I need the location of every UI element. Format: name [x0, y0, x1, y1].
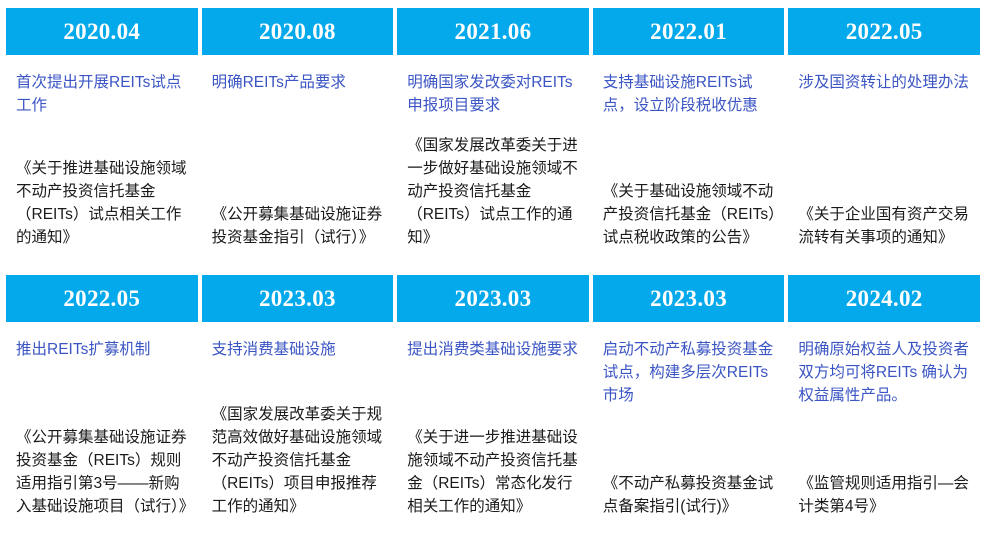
timeline-date-header: 2023.03 [397, 275, 589, 322]
timeline-summary-text: 提出消费类基础设施要求 [407, 338, 583, 361]
timeline-document-title: 《关于企业国有资产交易流转有关事项的通知》 [798, 203, 974, 249]
timeline-cell: 2024.02 明确原始权益人及投资者双方均可将REITs 确认为权益属性产品。… [788, 267, 980, 534]
timeline-date-label: 2023.03 [455, 287, 532, 310]
timeline-date-header: 2022.01 [593, 8, 785, 55]
timeline-row: 2022.05 推出REITs扩募机制 《公开募集基础设施证券投资基金（REIT… [6, 267, 980, 534]
timeline-cell: 2023.03 提出消费类基础设施要求 《关于进一步推进基础设施领域不动产投资信… [397, 267, 593, 534]
timeline-summary-text: 明确国家发改委对REITs申报项目要求 [407, 71, 583, 117]
timeline-date-header: 2021.06 [397, 8, 589, 55]
timeline-cell: 2023.03 启动不动产私募投资基金试点，构建多层次REITs市场 《不动产私… [593, 267, 789, 534]
reits-policy-timeline: 2020.04 首次提出开展REITs试点工作 《关于推进基础设施领域不动产投资… [0, 0, 986, 534]
timeline-cell-body: 支持消费基础设施 《国家发展改革委关于规范高效做好基础设施领域不动产投资信托基金… [202, 322, 394, 534]
timeline-summary-text: 明确原始权益人及投资者双方均可将REITs 确认为权益属性产品。 [798, 338, 974, 407]
timeline-date-label: 2022.01 [650, 20, 727, 43]
timeline-cell-body: 推出REITs扩募机制 《公开募集基础设施证券投资基金（REITs）规则适用指引… [6, 322, 198, 534]
timeline-document-title: 《关于基础设施领域不动产投资信托基金（REITs）试点税收政策的公告》 [603, 180, 779, 249]
timeline-cell-body: 首次提出开展REITs试点工作 《关于推进基础设施领域不动产投资信托基金（REI… [6, 55, 198, 267]
timeline-document-title: 《关于推进基础设施领域不动产投资信托基金（REITs）试点相关工作的通知》 [16, 157, 192, 249]
timeline-document-title: 《关于进一步推进基础设施领域不动产投资信托基金（REITs）常态化发行相关工作的… [407, 426, 583, 518]
timeline-date-header: 2022.05 [788, 8, 980, 55]
timeline-date-label: 2022.05 [846, 20, 923, 43]
timeline-summary-text: 支持消费基础设施 [212, 338, 388, 361]
timeline-date-label: 2023.03 [259, 287, 336, 310]
timeline-cell-body: 明确国家发改委对REITs申报项目要求 《国家发展改革委关于进一步做好基础设施领… [397, 55, 589, 267]
timeline-row: 2020.04 首次提出开展REITs试点工作 《关于推进基础设施领域不动产投资… [6, 0, 980, 267]
timeline-document-title: 《公开募集基础设施证券投资基金（REITs）规则适用指引第3号——新购入基础设施… [16, 426, 192, 518]
timeline-date-header: 2024.02 [788, 275, 980, 322]
timeline-date-label: 2020.08 [259, 20, 336, 43]
timeline-cell-body: 明确原始权益人及投资者双方均可将REITs 确认为权益属性产品。 《监管规则适用… [788, 322, 980, 534]
timeline-document-title: 《国家发展改革委关于规范高效做好基础设施领域不动产投资信托基金（REITs）项目… [212, 403, 388, 518]
timeline-cell-body: 明确REITs产品要求 《公开募集基础设施证券投资基金指引（试行）》 [202, 55, 394, 267]
timeline-document-title: 《国家发展改革委关于进一步做好基础设施领域不动产投资信托基金（REITs）试点工… [407, 134, 583, 249]
timeline-summary-text: 明确REITs产品要求 [212, 71, 388, 94]
timeline-cell-body: 提出消费类基础设施要求 《关于进一步推进基础设施领域不动产投资信托基金（REIT… [397, 322, 589, 534]
timeline-summary-text: 首次提出开展REITs试点工作 [16, 71, 192, 117]
timeline-date-label: 2023.03 [650, 287, 727, 310]
timeline-cell: 2022.05 涉及国资转让的处理办法 《关于企业国有资产交易流转有关事项的通知… [788, 0, 980, 267]
timeline-date-label: 2022.05 [63, 287, 140, 310]
timeline-cell-body: 支持基础设施REITs试点，设立阶段税收优惠 《关于基础设施领域不动产投资信托基… [593, 55, 785, 267]
timeline-document-title: 《公开募集基础设施证券投资基金指引（试行）》 [212, 203, 388, 249]
timeline-document-title: 《监管规则适用指引—会计类第4号》 [798, 472, 974, 518]
timeline-date-header: 2023.03 [593, 275, 785, 322]
timeline-cell: 2021.06 明确国家发改委对REITs申报项目要求 《国家发展改革委关于进一… [397, 0, 593, 267]
timeline-summary-text: 涉及国资转让的处理办法 [798, 71, 974, 94]
timeline-summary-text: 启动不动产私募投资基金试点，构建多层次REITs市场 [603, 338, 779, 407]
timeline-date-label: 2024.02 [846, 287, 923, 310]
timeline-cell: 2020.04 首次提出开展REITs试点工作 《关于推进基础设施领域不动产投资… [6, 0, 202, 267]
timeline-cell-body: 涉及国资转让的处理办法 《关于企业国有资产交易流转有关事项的通知》 [788, 55, 980, 267]
timeline-cell: 2022.01 支持基础设施REITs试点，设立阶段税收优惠 《关于基础设施领域… [593, 0, 789, 267]
timeline-date-header: 2023.03 [202, 275, 394, 322]
timeline-date-header: 2022.05 [6, 275, 198, 322]
timeline-summary-text: 推出REITs扩募机制 [16, 338, 192, 361]
timeline-cell: 2020.08 明确REITs产品要求 《公开募集基础设施证券投资基金指引（试行… [202, 0, 398, 267]
timeline-cell: 2023.03 支持消费基础设施 《国家发展改革委关于规范高效做好基础设施领域不… [202, 267, 398, 534]
timeline-date-label: 2021.06 [455, 20, 532, 43]
timeline-cell-body: 启动不动产私募投资基金试点，构建多层次REITs市场 《不动产私募投资基金试点备… [593, 322, 785, 534]
timeline-date-header: 2020.04 [6, 8, 198, 55]
timeline-date-label: 2020.04 [63, 20, 140, 43]
timeline-cell: 2022.05 推出REITs扩募机制 《公开募集基础设施证券投资基金（REIT… [6, 267, 202, 534]
timeline-summary-text: 支持基础设施REITs试点，设立阶段税收优惠 [603, 71, 779, 117]
timeline-document-title: 《不动产私募投资基金试点备案指引(试行)》 [603, 472, 779, 518]
timeline-date-header: 2020.08 [202, 8, 394, 55]
